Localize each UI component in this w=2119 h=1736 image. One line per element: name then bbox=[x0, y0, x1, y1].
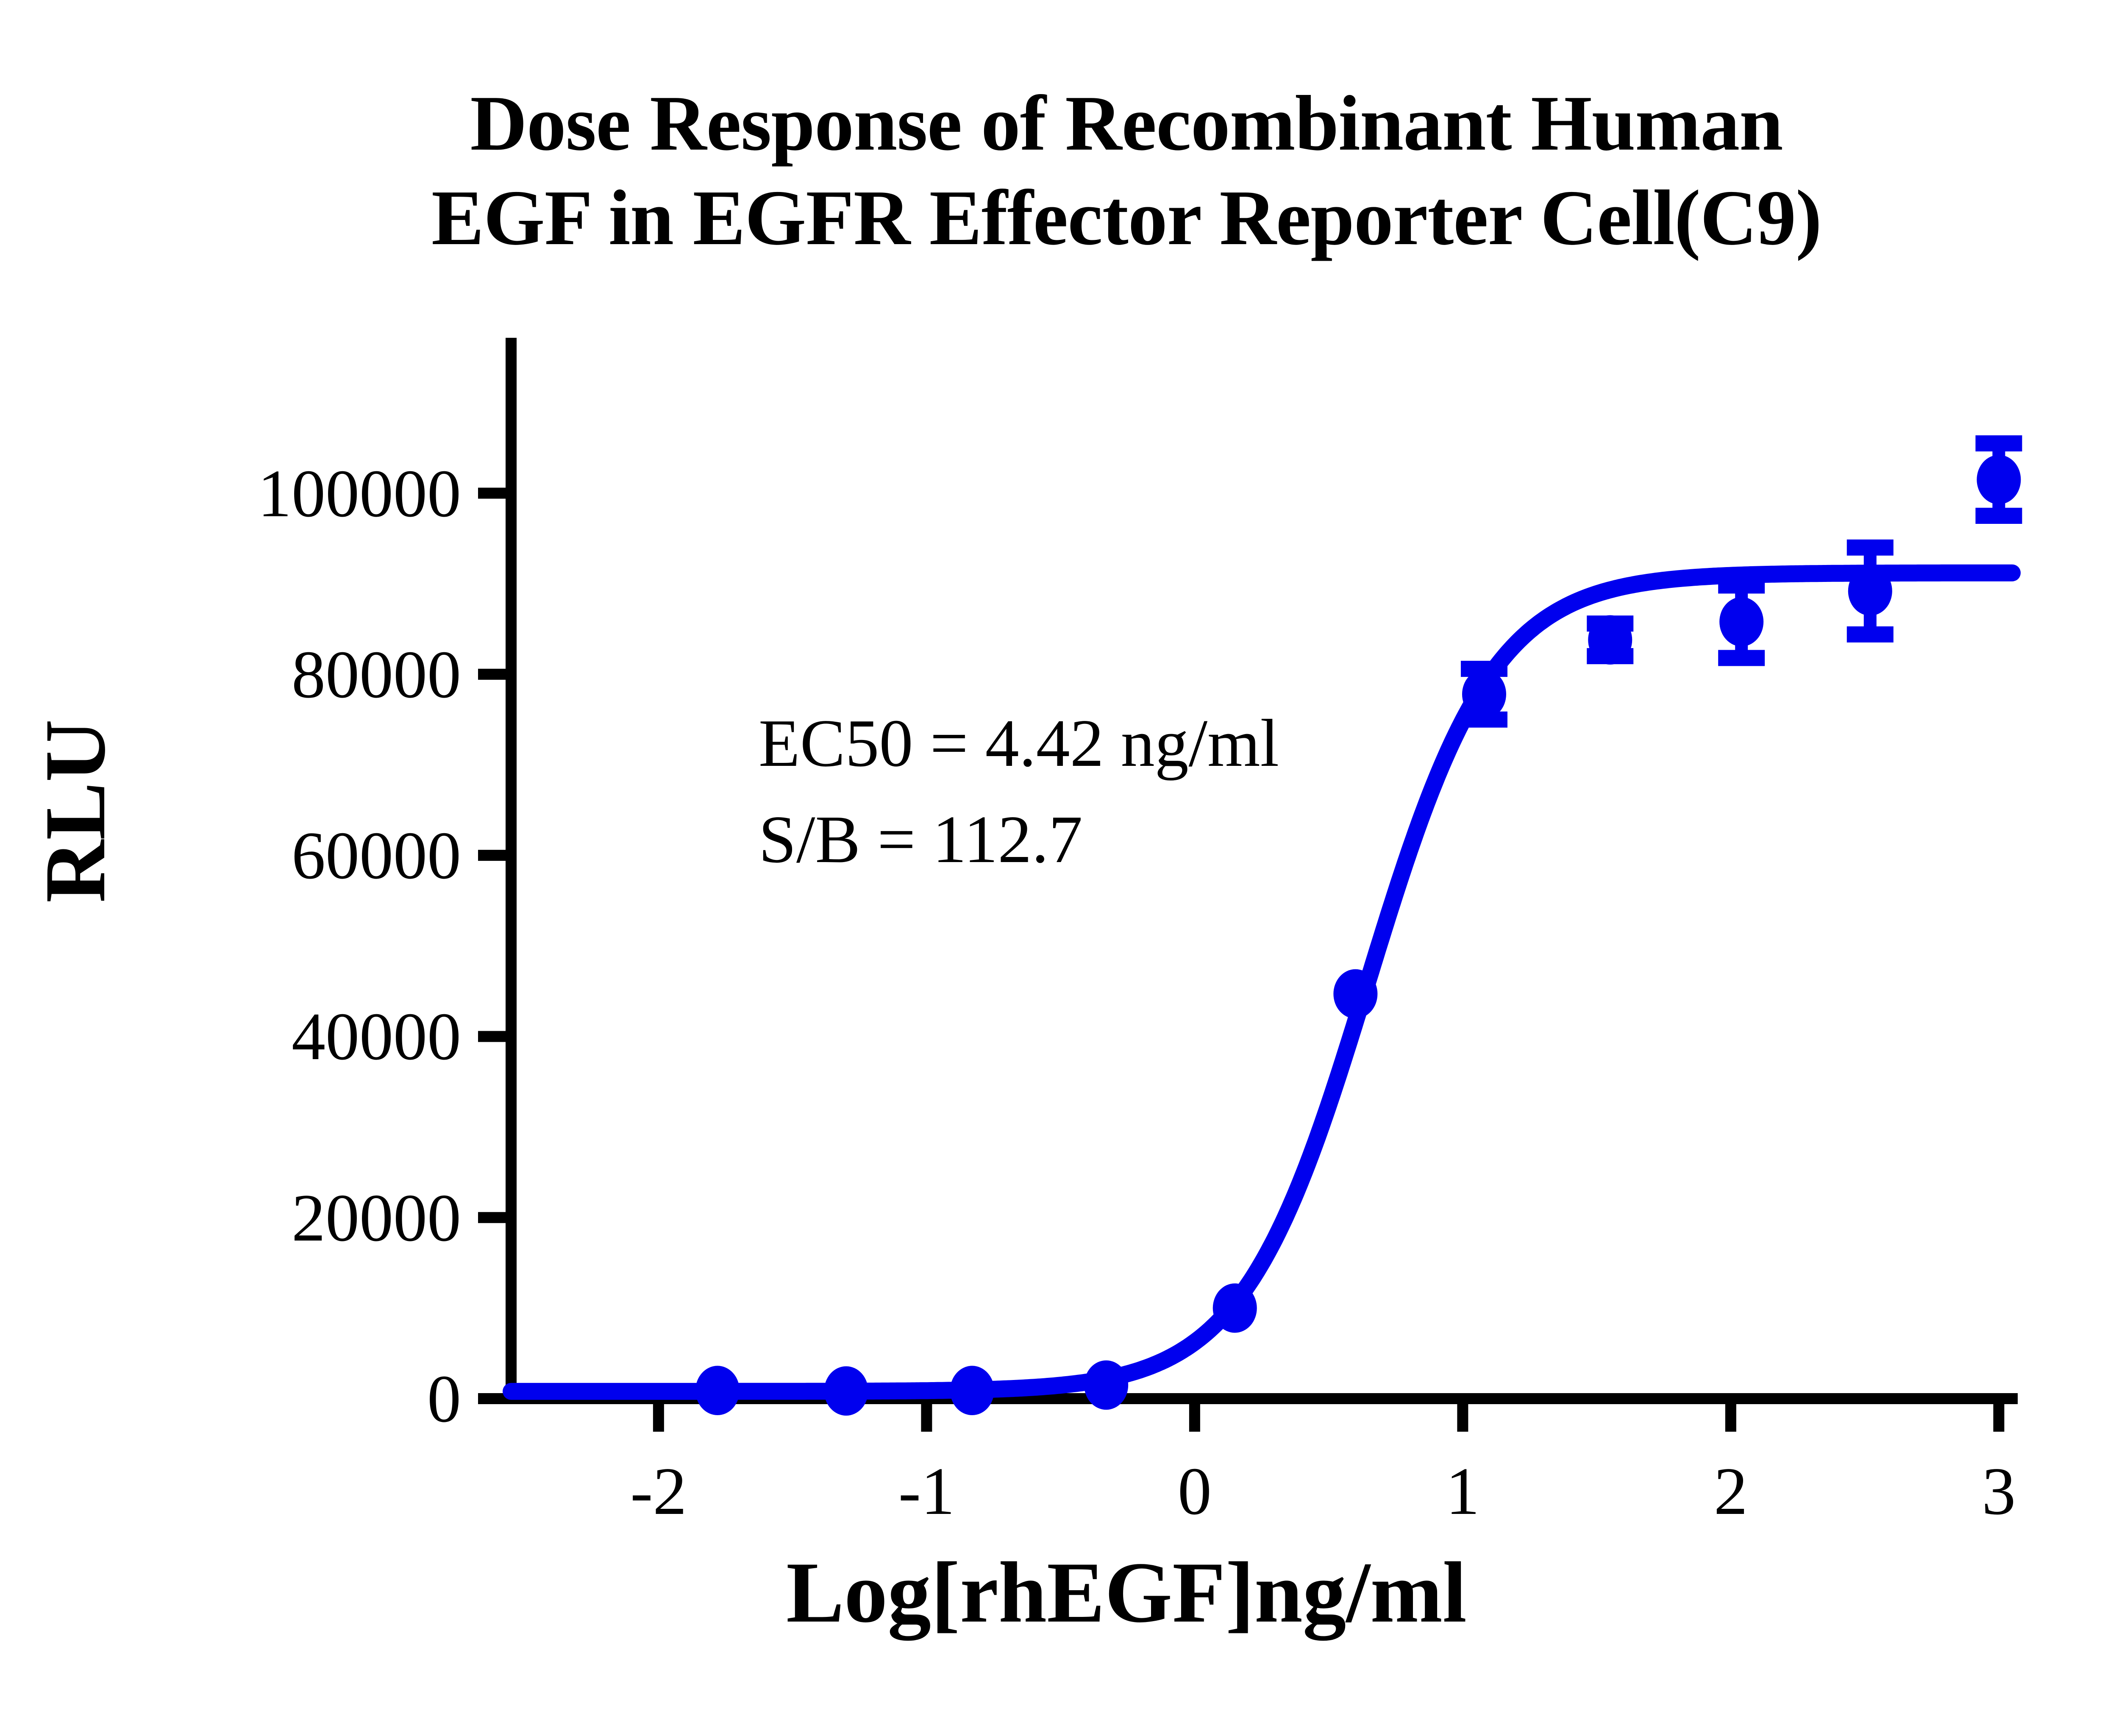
data-points bbox=[695, 455, 2021, 1416]
annotation-signal-background: S/B = 112.7 bbox=[759, 791, 1279, 887]
x-tick-label-5: 3 bbox=[1982, 1457, 2016, 1525]
annotation-block: EC50 = 4.42 ng/ml S/B = 112.7 bbox=[759, 695, 1279, 887]
data-point-marker bbox=[950, 1366, 994, 1415]
data-point-marker bbox=[824, 1366, 868, 1416]
data-point-marker bbox=[1588, 615, 1632, 664]
y-axis-title: RLU bbox=[25, 719, 125, 903]
y-tick-label-5: 100000 bbox=[258, 459, 461, 527]
annotation-ec50: EC50 = 4.42 ng/ml bbox=[759, 695, 1279, 791]
data-point-marker bbox=[695, 1366, 740, 1415]
x-tick-label-1: -1 bbox=[898, 1457, 955, 1525]
y-tick-label-4: 80000 bbox=[292, 640, 461, 708]
x-tick-label-2: 0 bbox=[1178, 1457, 1212, 1525]
y-tick-label-3: 60000 bbox=[292, 821, 461, 889]
chart-figure: Dose Response of Recombinant Human EGF i… bbox=[0, 0, 2119, 1736]
x-tick-label-4: 2 bbox=[1714, 1457, 1748, 1525]
data-point-marker bbox=[1977, 455, 2021, 504]
data-point-marker bbox=[1848, 566, 1892, 615]
data-point-marker bbox=[1084, 1360, 1128, 1410]
data-point-marker bbox=[1213, 1283, 1257, 1333]
data-point-marker bbox=[1719, 597, 1763, 646]
error-bars bbox=[1461, 443, 2022, 720]
y-tick-label-0: 0 bbox=[427, 1365, 461, 1433]
y-tick-label-1: 20000 bbox=[292, 1184, 461, 1252]
data-point-marker bbox=[1333, 969, 1377, 1018]
x-tick-label-0: -2 bbox=[630, 1457, 687, 1525]
x-axis-title: Log[rhEGF]ng/ml bbox=[0, 1543, 2119, 1643]
data-point-marker bbox=[1462, 670, 1506, 719]
y-tick-label-2: 40000 bbox=[292, 1002, 461, 1070]
x-tick-label-3: 1 bbox=[1446, 1457, 1479, 1525]
